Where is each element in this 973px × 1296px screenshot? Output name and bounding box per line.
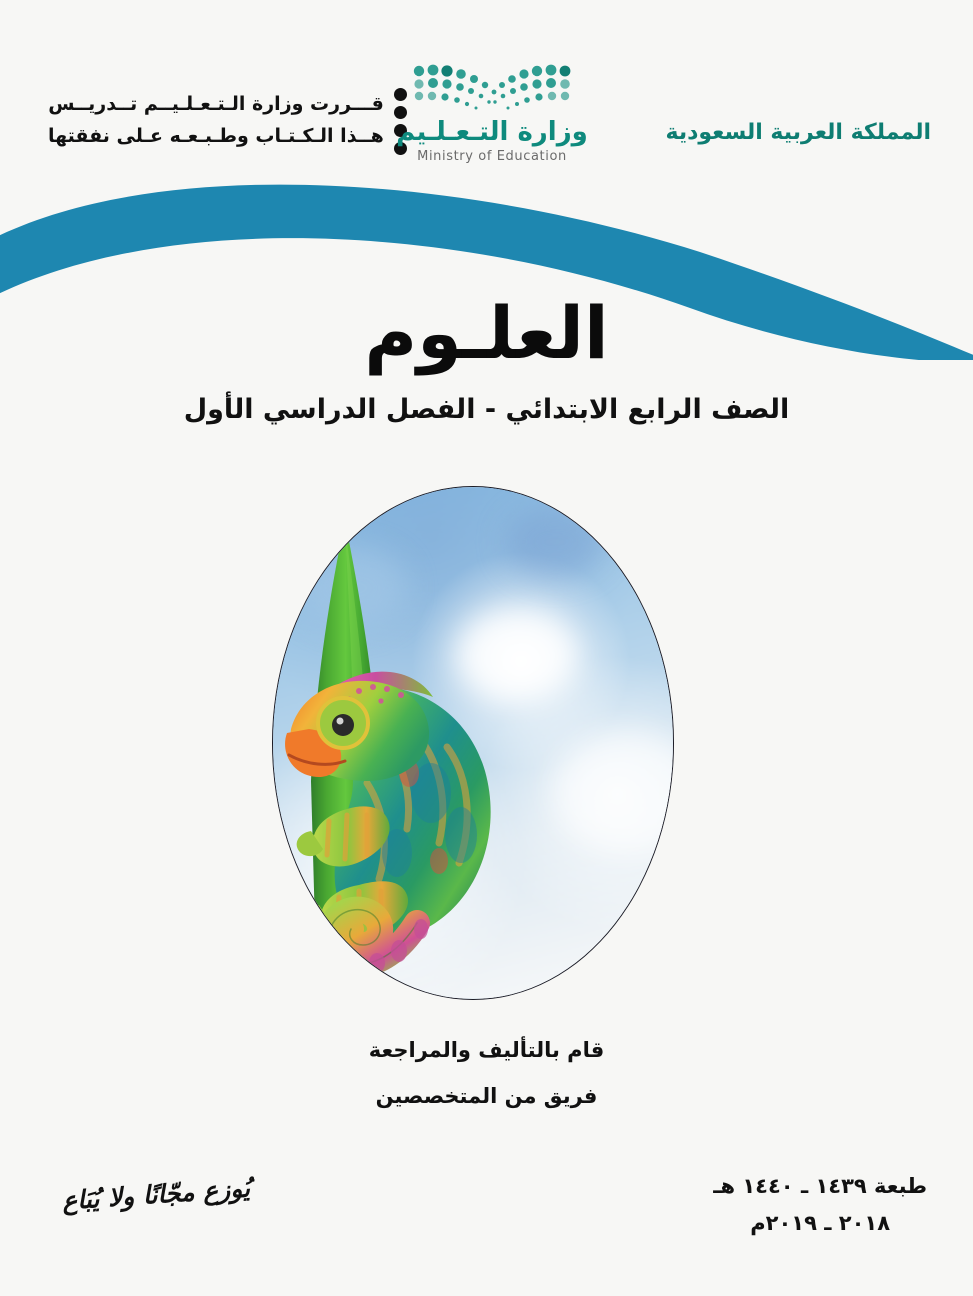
page-subtitle: الصف الرابع الابتدائي - الفصل الدراسي ال… (0, 394, 973, 425)
cloud-blotch (505, 507, 605, 577)
edition-hijri: طبعة ١٤٣٩ ـ ١٤٤٠ هـ (713, 1168, 927, 1205)
cover-photo-oval-frame (272, 486, 674, 1000)
title-block: العلـوم الصف الرابع الابتدائي - الفصل ال… (0, 296, 973, 425)
decree-line-2: هــذا الـكـتـاب وطـبـعـه عـلى نفقتها (48, 121, 384, 152)
cover-header: قـــررت وزارة الـتـعـلـيــم تــدريــس هـ… (0, 0, 973, 190)
book-cover: قـــررت وزارة الـتـعـلـيــم تــدريــس هـ… (0, 0, 973, 1296)
ministry-name-arabic: وزارة التـعـلـيم (372, 118, 612, 147)
moe-dots-emblem-icon (407, 62, 577, 114)
credits-block: قام بالتأليف والمراجعة فريق من المتخصصين (0, 1038, 973, 1108)
kingdom-name: المملكة العربية السعودية (665, 120, 931, 145)
page-title: العلـوم (0, 296, 973, 372)
edition-block: طبعة ١٤٣٩ ـ ١٤٤٠ هـ ٢٠١٨ ـ ٢٠١٩م (713, 1168, 927, 1242)
decree-text: قـــررت وزارة الـتـعـلـيــم تــدريــس هـ… (48, 89, 384, 152)
ministry-of-education-logo: وزارة التـعـلـيم Ministry of Education (372, 62, 612, 164)
chameleon-eye (318, 698, 368, 748)
ministry-decree-block: قـــررت وزارة الـتـعـلـيــم تــدريــس هـ… (48, 86, 407, 155)
credits-line-2: فريق من المتخصصين (0, 1084, 973, 1108)
chameleon-illustration (281, 623, 527, 991)
ministry-name-english: Ministry of Education (372, 149, 612, 164)
credits-line-1: قام بالتأليف والمراجعة (0, 1038, 973, 1062)
free-distribution-note: يُوزع مجّانًا ولا يُبَاع (61, 1173, 251, 1215)
edition-gregorian: ٢٠١٨ ـ ٢٠١٩م (713, 1205, 927, 1242)
decree-line-1: قـــررت وزارة الـتـعـلـيــم تــدريــس (48, 89, 384, 120)
